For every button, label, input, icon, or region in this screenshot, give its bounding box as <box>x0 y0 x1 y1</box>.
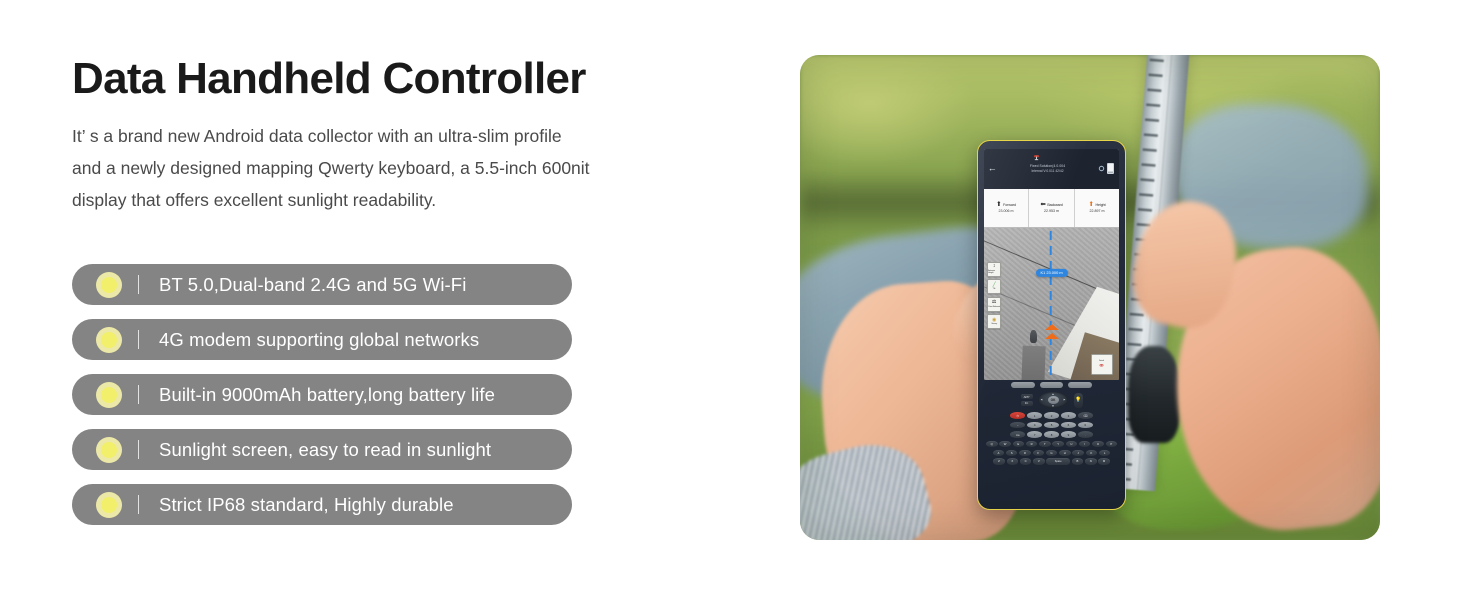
key-v[interactable]: V <box>1033 458 1044 464</box>
tool-point-stakeout[interactable]: ⚖ Point Stakeout <box>987 297 1001 312</box>
feature-label: Strict IP68 standard, Highly durable <box>159 494 454 516</box>
tool-label: Antenna Height <box>988 270 1000 274</box>
feature-item-4g-modem[interactable]: 4G modem supporting global networks <box>72 319 572 360</box>
measurement-forward: ⬆ Forward 23.006 m <box>984 189 1030 227</box>
soft-key-row <box>982 382 1120 388</box>
key-6[interactable]: 6 <box>1061 422 1076 429</box>
key-m[interactable]: M <box>1098 458 1109 464</box>
key-3[interactable]: 3 <box>1061 412 1076 419</box>
key-9[interactable]: 9 <box>1061 431 1076 438</box>
key-l[interactable]: L <box>1099 450 1110 456</box>
key-g[interactable]: G <box>1046 450 1057 456</box>
key-k[interactable]: K <box>1086 450 1097 456</box>
measurement-backward: ⬅ Backward 22.953 m <box>1029 189 1075 227</box>
measurement-label: Height <box>1095 203 1105 207</box>
feature-label: Sunlight screen, easy to read in sunligh… <box>159 439 491 461</box>
key-t[interactable]: T <box>1039 441 1050 447</box>
back-arrow-icon[interactable]: ← <box>988 164 997 173</box>
navigation-block: APP Fn ▲ ▼ ◄ ► OK 💡 <box>982 392 1120 408</box>
measurement-height: ⬆ Height 22.897 m <box>1075 189 1120 227</box>
number-row-3: Aa 7 8 9 . <box>982 431 1120 438</box>
glow-dot-icon <box>91 432 127 468</box>
feature-label: BT 5.0,Dual-band 2.4G and 5G Wi-Fi <box>159 274 466 296</box>
measurement-value: 22.897 m <box>1090 209 1105 213</box>
description-line-3: display that offers excellent sunlight r… <box>72 184 647 216</box>
measurement-row: ⬆ Forward 23.006 m ⬅ Backward 22.953 m <box>984 189 1120 228</box>
feature-item-sunlight-screen[interactable]: Sunlight screen, easy to read in sunligh… <box>72 429 572 470</box>
key-y[interactable]: Y <box>1052 441 1063 447</box>
feature-item-battery[interactable]: Built-in 9000mAh battery,long battery li… <box>72 374 572 415</box>
pill-divider <box>138 385 139 404</box>
key-e[interactable]: E <box>1013 441 1024 447</box>
menu-key[interactable] <box>1011 382 1035 388</box>
route-map-icon: ⚭ <box>1098 362 1105 370</box>
flashlight-icon[interactable]: 💡 <box>1074 393 1083 408</box>
measurement-label: Forward <box>1003 203 1016 207</box>
key-f[interactable]: F <box>1033 450 1044 456</box>
pill-divider <box>138 495 139 514</box>
map-view[interactable]: K1 23.000 m ↕ Antenna Height ╱ Tilt <box>984 228 1120 380</box>
period-key[interactable]: . <box>1078 431 1093 438</box>
pill-divider <box>138 275 139 294</box>
key-5[interactable]: 5 <box>1044 422 1059 429</box>
app-status-bar: ← Fixed Solution(4.0.004 Internal V:0.01… <box>984 149 1120 188</box>
hero-description: It’ s a brand new Android data collector… <box>72 120 647 216</box>
dpad-up-icon[interactable]: ▲ <box>1052 393 1055 396</box>
key-i[interactable]: I <box>1079 441 1090 447</box>
feature-label: Built-in 9000mAh battery,long battery li… <box>159 384 495 406</box>
key-h[interactable]: H <box>1059 450 1070 456</box>
feature-item-ip68[interactable]: Strict IP68 standard, Highly durable <box>72 484 572 525</box>
fn-key[interactable]: Fn <box>1021 401 1033 406</box>
key-4[interactable]: 4 <box>1027 422 1042 429</box>
key-u[interactable]: U <box>1066 441 1077 447</box>
tool-antenna-height[interactable]: ↕ Antenna Height <box>987 262 1001 277</box>
height-arrow-icon: ⬆ <box>1089 202 1094 209</box>
direction-chevron-icon <box>1045 324 1059 330</box>
key-j[interactable]: J <box>1072 450 1083 456</box>
app-key[interactable]: APP <box>1021 394 1033 399</box>
key-p[interactable]: P <box>1106 441 1117 447</box>
status-line-1: Fixed Solution(4.0.004 <box>1030 164 1065 168</box>
direction-chevron-icon <box>1045 333 1059 339</box>
qwerty-row-3: Z X C V Space B N M <box>982 458 1120 464</box>
key-c[interactable]: C <box>1020 458 1031 464</box>
antenna-height-icon: ↕ <box>993 264 996 269</box>
measurement-value: 23.006 m <box>999 209 1014 213</box>
product-hero-banner: Data Handheld Controller It’ s a brand n… <box>0 0 1464 600</box>
key-b[interactable]: B <box>1072 458 1083 464</box>
tool-label: Tilt <box>993 288 995 290</box>
key-7[interactable]: 7 <box>1027 431 1042 438</box>
key-2[interactable]: 2 <box>1044 412 1059 419</box>
key-s[interactable]: S <box>1006 450 1017 456</box>
glow-dot-icon <box>91 322 127 358</box>
description-line-1: It’ s a brand new Android data collector… <box>72 120 647 152</box>
key-w[interactable]: W <box>999 441 1010 447</box>
back-key[interactable] <box>1068 382 1092 388</box>
dpad-down-icon[interactable]: ▼ <box>1052 405 1055 408</box>
device-keypad: APP Fn ▲ ▼ ◄ ► OK 💡 ⏻ 1 2 <box>982 382 1120 504</box>
status-line-2: Internal V:0.011 42/42 <box>1032 169 1064 173</box>
home-key[interactable] <box>1040 382 1064 388</box>
power-key[interactable]: ⏻ <box>1010 412 1025 419</box>
shift-aa-key[interactable]: Aa <box>1010 431 1025 438</box>
feature-label: 4G modem supporting global networks <box>159 329 479 351</box>
product-photo: ← Fixed Solution(4.0.004 Internal V:0.01… <box>800 55 1380 540</box>
pole-clamp <box>1128 346 1180 443</box>
pill-divider <box>138 330 139 349</box>
status-text: Fixed Solution(4.0.004 Internal V:0.011 … <box>997 164 1099 173</box>
key-n[interactable]: N <box>1085 458 1096 464</box>
road-shoulder <box>1021 345 1045 379</box>
map-toolbar: ↕ Antenna Height ╱ Tilt ⚖ Point Stakeout <box>987 262 1001 330</box>
device-screen[interactable]: ← Fixed Solution(4.0.004 Internal V:0.01… <box>984 149 1120 379</box>
number-row-1: ⏻ 1 2 3 ⌫ <box>982 412 1120 419</box>
dpad-left-icon[interactable]: ◄ <box>1040 399 1043 402</box>
surveyor-marker <box>1030 330 1037 343</box>
hero-text-block: Data Handheld Controller It’ s a brand n… <box>72 56 712 216</box>
left-arrow-icon: ⬅ <box>1040 202 1045 209</box>
glow-dot-icon <box>91 267 127 303</box>
minus-key[interactable]: − <box>1010 422 1025 429</box>
key-q[interactable]: Q <box>986 441 997 447</box>
measurement-label: Backward <box>1047 203 1062 207</box>
key-1[interactable]: 1 <box>1027 412 1042 419</box>
gear-icon[interactable] <box>1098 165 1105 172</box>
dpad-right-icon[interactable]: ► <box>1063 399 1066 402</box>
tool-label: Survey <box>991 323 997 325</box>
key-r[interactable]: R <box>1026 441 1037 447</box>
space-key[interactable]: Space <box>1046 458 1070 464</box>
battery-icon <box>1107 163 1114 174</box>
tool-tilt[interactable]: ╱ Tilt <box>987 279 1001 294</box>
tool-label: Point Stakeout <box>988 306 1000 308</box>
feature-item-bluetooth-wifi[interactable]: BT 5.0,Dual-band 2.4G and 5G Wi-Fi <box>72 264 572 305</box>
glow-dot-icon <box>91 487 127 523</box>
tool-survey[interactable]: ◉ Survey <box>987 314 1001 329</box>
function-key-group: APP Fn <box>1021 394 1033 406</box>
key-o[interactable]: O <box>1092 441 1103 447</box>
key-8[interactable]: 8 <box>1044 431 1059 438</box>
feature-list: BT 5.0,Dual-band 2.4G and 5G Wi-Fi 4G mo… <box>72 264 572 539</box>
qwerty-row-1: Q W E R T Y U I O P <box>982 441 1120 447</box>
map-inset-panel[interactable]: Detail ⚭ <box>1091 354 1113 375</box>
description-line-2: and a newly designed mapping Qwerty keyb… <box>72 152 647 184</box>
dpad[interactable]: ▲ ▼ ◄ ► OK <box>1038 392 1068 408</box>
key-d[interactable]: D <box>1019 450 1030 456</box>
key-x[interactable]: X <box>1007 458 1018 464</box>
key-z[interactable]: Z <box>993 458 1004 464</box>
glow-dot-icon <box>91 377 127 413</box>
number-row-2: − 4 5 6 0 <box>982 422 1120 429</box>
pill-divider <box>138 440 139 459</box>
key-a[interactable]: A <box>993 450 1004 456</box>
key-0[interactable]: 0 <box>1078 422 1093 429</box>
alignment-centerline <box>1050 231 1053 380</box>
stakeout-icon: ⚖ <box>992 300 996 305</box>
station-label: K1 23.000 m <box>1036 268 1068 276</box>
survey-target-icon: ◉ <box>992 318 996 323</box>
antenna-icon <box>1033 154 1040 161</box>
up-arrow-icon: ⬆ <box>996 202 1001 209</box>
qwerty-row-2: A S D F G H J K L <box>982 450 1120 456</box>
delete-key[interactable]: ⌫ <box>1078 412 1093 419</box>
page-title: Data Handheld Controller <box>72 56 712 102</box>
measurement-value: 22.953 m <box>1044 209 1059 213</box>
handheld-controller-device: ← Fixed Solution(4.0.004 Internal V:0.01… <box>977 140 1126 511</box>
